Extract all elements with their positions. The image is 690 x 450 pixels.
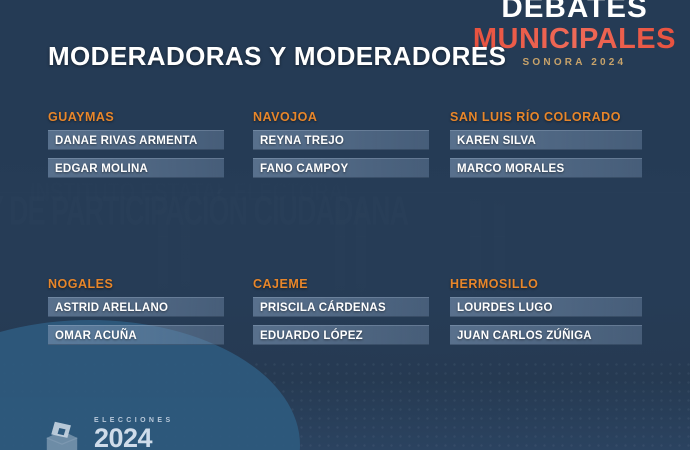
moderator-name-bar: OMAR ACUÑA xyxy=(48,325,224,345)
column-san-luis-rio-colorado: SAN LUIS RÍO COLORADO KAREN SILVA MARCO … xyxy=(450,110,642,186)
footer-logo: ELECCIONES 2024 xyxy=(44,417,174,450)
city-heading: GUAYMAS xyxy=(48,110,224,124)
moderator-name-bar: EDUARDO LÓPEZ xyxy=(253,325,429,345)
moderator-name-bar: LOURDES LUGO xyxy=(450,297,642,317)
footer-logo-text: ELECCIONES 2024 xyxy=(94,417,174,450)
moderator-name-bar: DANAE RIVAS ARMENTA xyxy=(48,130,224,150)
city-heading: NAVOJOA xyxy=(253,110,429,124)
logo-line-debates: DEBATES xyxy=(471,0,678,23)
moderator-name-bar: FANO CAMPOY xyxy=(253,158,429,178)
city-heading: HERMOSILLO xyxy=(450,277,642,291)
moderator-name-bar: EDGAR MOLINA xyxy=(48,158,224,178)
city-heading: CAJEME xyxy=(253,277,429,291)
moderator-name-bar: PRISCILA CÁRDENAS xyxy=(253,297,429,317)
page-title: MODERADORAS Y MODERADORES xyxy=(48,41,506,72)
moderator-name-bar: KAREN SILVA xyxy=(450,130,642,150)
moderator-name-bar: ASTRID ARELLANO xyxy=(48,297,224,317)
footer-logo-year: 2024 xyxy=(94,425,174,450)
column-nogales: NOGALES ASTRID ARELLANO OMAR ACUÑA xyxy=(48,277,224,353)
column-hermosillo: HERMOSILLO LOURDES LUGO JUAN CARLOS ZÚÑI… xyxy=(450,277,642,353)
moderator-name-bar: REYNA TREJO xyxy=(253,130,429,150)
moderator-name-bar: MARCO MORALES xyxy=(450,158,642,178)
moderator-name-bar: JUAN CARLOS ZÚÑIGA xyxy=(450,325,642,345)
column-guaymas: GUAYMAS DANAE RIVAS ARMENTA EDGAR MOLINA xyxy=(48,110,224,186)
city-heading: NOGALES xyxy=(48,277,224,291)
slide-canvas: Y DE PARTICIPACIÓN CIUDADANA INSTITUTO E… xyxy=(0,0,690,450)
ballot-box-icon xyxy=(44,420,80,450)
column-navojoa: NAVOJOA REYNA TREJO FANO CAMPOY xyxy=(253,110,429,186)
city-heading: SAN LUIS RÍO COLORADO xyxy=(450,110,642,124)
column-cajeme: CAJEME PRISCILA CÁRDENAS EDUARDO LÓPEZ xyxy=(253,277,429,353)
